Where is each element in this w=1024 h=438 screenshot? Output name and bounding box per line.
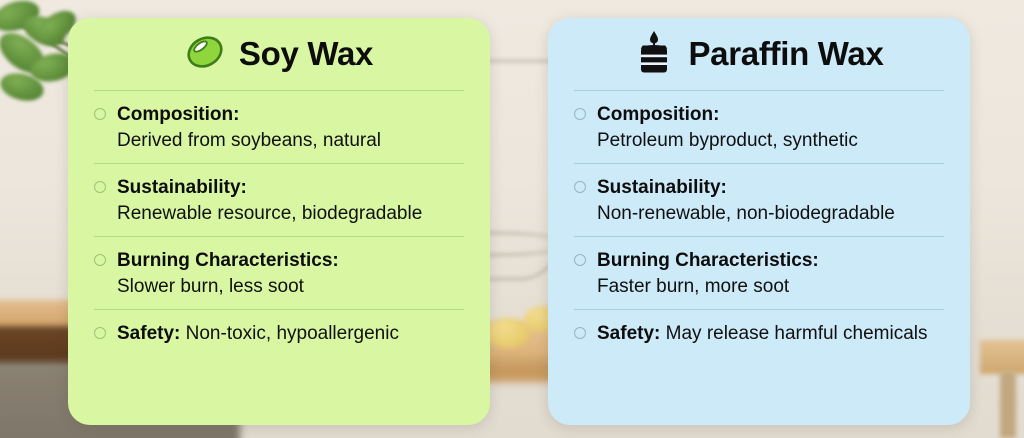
- circle-bullet-icon: [94, 327, 106, 339]
- circle-bullet-icon: [94, 108, 106, 120]
- attribute-value: Non-renewable, non-biodegradable: [597, 201, 944, 226]
- attribute-list: Composition: Derived from soybeans, natu…: [94, 91, 464, 357]
- attribute-label: Sustainability:: [597, 177, 727, 198]
- circle-bullet-icon: [574, 108, 586, 120]
- list-item: Safety: Non-toxic, hypoallergenic: [94, 310, 464, 356]
- soybean-icon: [185, 32, 225, 77]
- attribute-value: Faster burn, more soot: [597, 274, 944, 299]
- card-paraffin-wax: Paraffin Wax Composition: Petroleum bypr…: [548, 18, 970, 425]
- list-item: Sustainability: Renewable resource, biod…: [94, 164, 464, 236]
- circle-bullet-icon: [94, 254, 106, 266]
- circle-bullet-icon: [574, 254, 586, 266]
- attribute-value: Non-toxic, hypoallergenic: [186, 323, 399, 344]
- list-item: Burning Characteristics: Faster burn, mo…: [574, 237, 944, 309]
- attribute-label: Composition:: [117, 104, 239, 125]
- attribute-value: Petroleum byproduct, synthetic: [597, 128, 944, 153]
- circle-bullet-icon: [574, 327, 586, 339]
- attribute-value: Slower burn, less soot: [117, 274, 464, 299]
- list-item: Composition: Petroleum byproduct, synthe…: [574, 91, 944, 163]
- attribute-value: May release harmful chemicals: [666, 323, 928, 344]
- attribute-value: Renewable resource, biodegradable: [117, 201, 464, 226]
- circle-bullet-icon: [94, 181, 106, 193]
- circle-bullet-icon: [574, 181, 586, 193]
- attribute-list: Composition: Petroleum byproduct, synthe…: [574, 91, 944, 357]
- attribute-label: Burning Characteristics:: [597, 250, 819, 271]
- list-item: Composition: Derived from soybeans, natu…: [94, 91, 464, 163]
- card-header: Soy Wax: [94, 18, 464, 90]
- card-title: Paraffin Wax: [688, 35, 883, 73]
- list-item: Sustainability: Non-renewable, non-biode…: [574, 164, 944, 236]
- attribute-label: Burning Characteristics:: [117, 250, 339, 271]
- attribute-label: Safety:: [597, 323, 666, 344]
- attribute-label: Safety:: [117, 323, 186, 344]
- list-item: Burning Characteristics: Slower burn, le…: [94, 237, 464, 309]
- oil-barrel-candle-icon: [634, 29, 674, 80]
- attribute-label: Composition:: [597, 104, 719, 125]
- attribute-label: Sustainability:: [117, 177, 247, 198]
- card-soy-wax: Soy Wax Composition: Derived from soybea…: [68, 18, 490, 425]
- list-item: Safety: May release harmful chemicals: [574, 310, 944, 356]
- attribute-value: Derived from soybeans, natural: [117, 128, 464, 153]
- card-title: Soy Wax: [239, 35, 373, 73]
- comparison-infographic: Soy Wax Composition: Derived from soybea…: [0, 0, 1024, 438]
- card-header: Paraffin Wax: [574, 18, 944, 90]
